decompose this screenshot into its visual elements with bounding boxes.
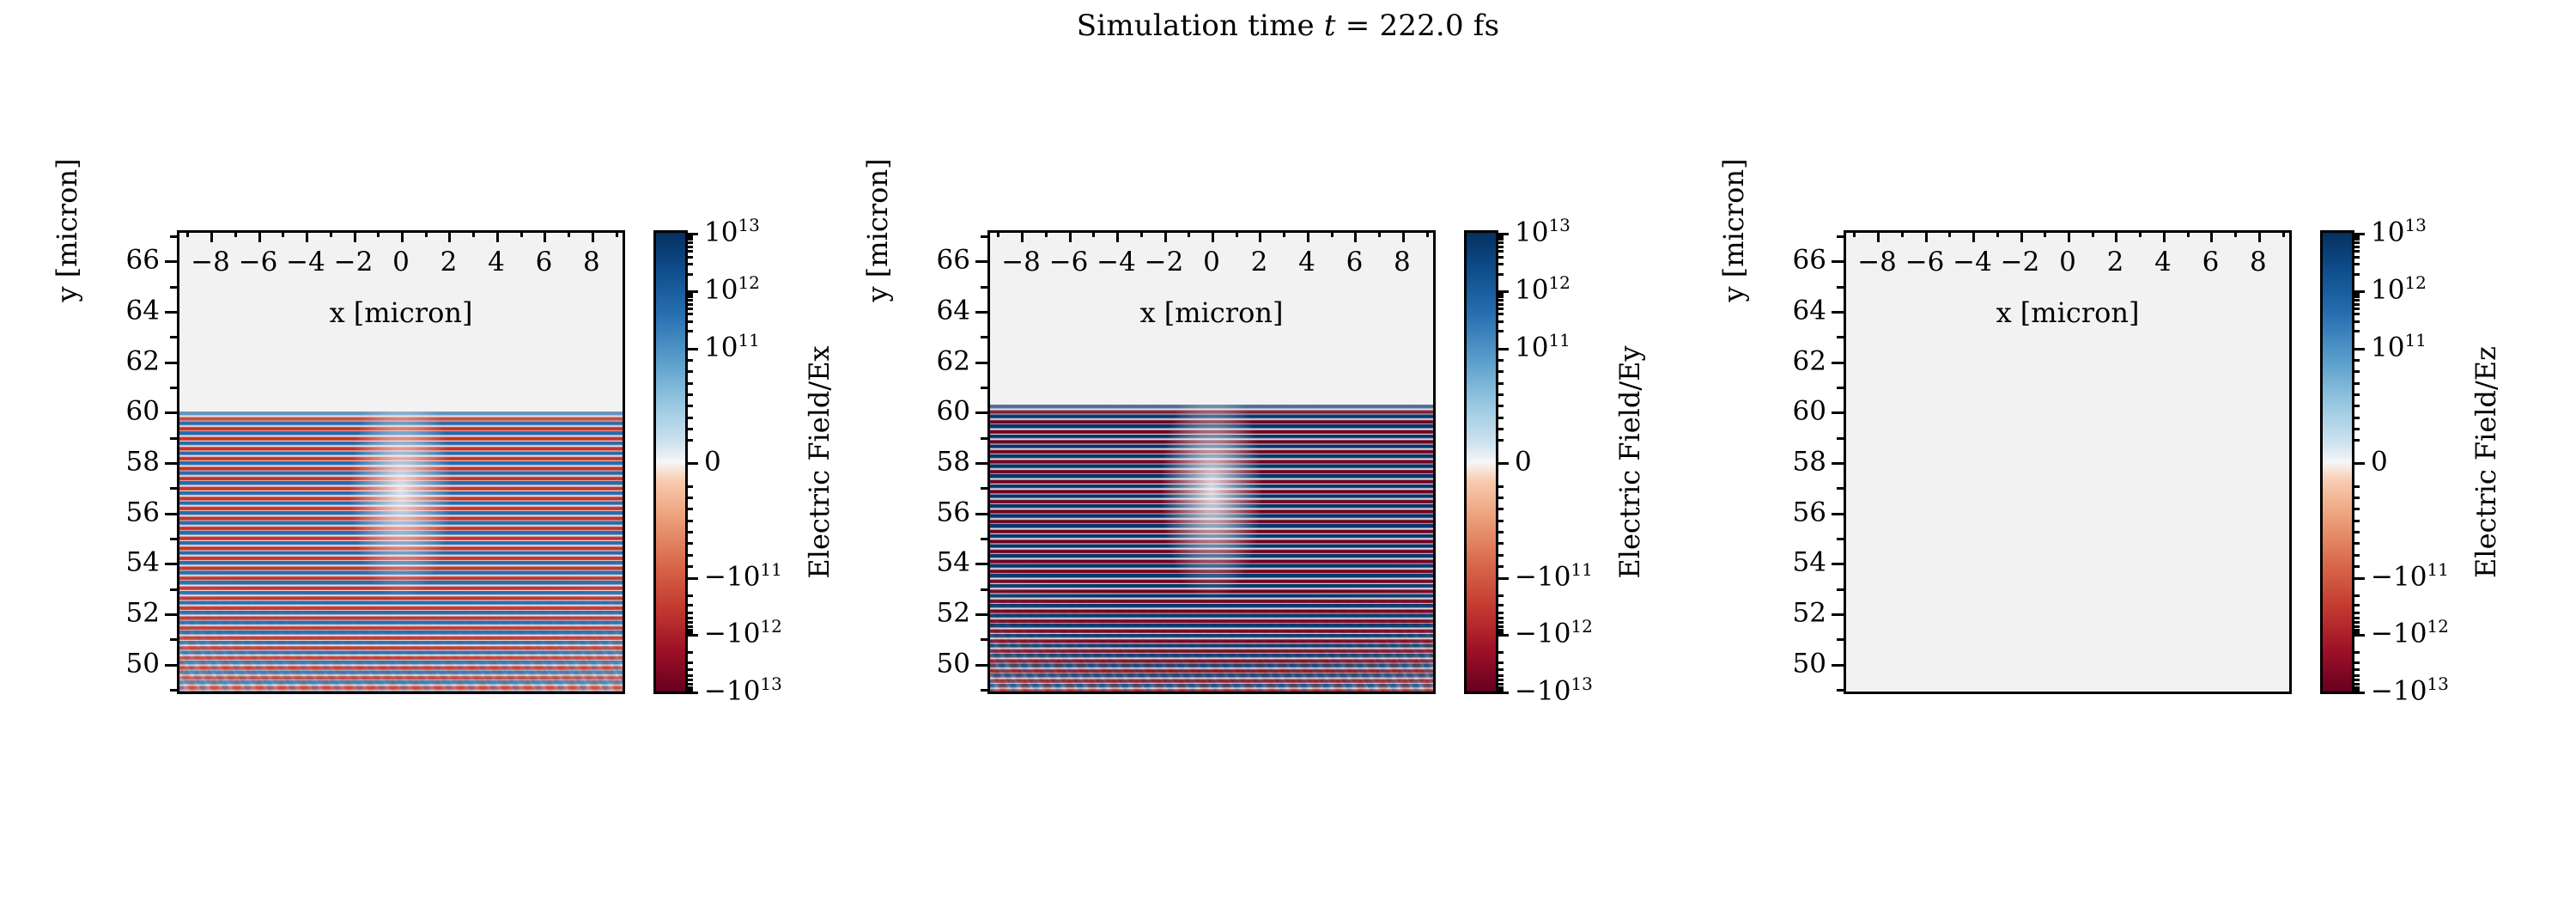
- y-tick-minor: [170, 437, 177, 440]
- y-tick-minor: [981, 689, 987, 692]
- colorbar-tick-minor: [1496, 241, 1504, 244]
- x-tick-minor: [472, 230, 475, 237]
- colorbar-tick-minor: [685, 303, 693, 306]
- colorbar-tick-minor: [685, 497, 693, 499]
- y-tick-major: [1832, 513, 1844, 515]
- colorbar-ex: 1013101210110−1011−1012−1013Electric Fie…: [653, 230, 688, 694]
- x-tick-major: [1212, 230, 1214, 242]
- colorbar-tick-minor: [1496, 293, 1504, 296]
- x-tick-minor: [616, 230, 618, 237]
- colorbar-tick-major: [685, 348, 698, 350]
- x-tick-minor: [234, 230, 237, 237]
- x-tick-label: −8: [1857, 249, 1897, 276]
- y-tick-minor: [981, 638, 987, 641]
- y-tick-major: [1832, 311, 1844, 314]
- y-tick-major: [165, 411, 177, 414]
- y-tick-major: [165, 362, 177, 364]
- colorbar-tick-major: [1496, 462, 1509, 465]
- colorbar-tick-minor: [2352, 594, 2360, 597]
- colorbar-tick-minor: [2352, 382, 2360, 385]
- colorbar-tick-minor: [1496, 250, 1504, 253]
- y-tick-major: [1832, 260, 1844, 263]
- colorbar-tick-minor: [2352, 683, 2360, 686]
- x-axis-label: x [micron]: [177, 297, 625, 328]
- y-tick-label: 56: [126, 499, 160, 526]
- x-tick-minor: [1092, 230, 1095, 237]
- colorbar-tick-minor: [2352, 612, 2360, 614]
- x-tick-major: [401, 230, 404, 242]
- colorbar-label-ey: Electric Field/Ey: [1614, 345, 1645, 578]
- colorbar-tick-minor: [1496, 542, 1504, 545]
- x-tick-label: −2: [2001, 249, 2040, 276]
- colorbar-tick-label: 0: [2371, 449, 2388, 476]
- colorbar-tick-minor: [685, 625, 693, 628]
- colorbar-tick-minor: [1496, 238, 1504, 241]
- x-tick-label: 6: [1346, 249, 1364, 276]
- x-tick-minor: [2234, 230, 2237, 237]
- colorbar-tick-minor: [685, 604, 693, 606]
- colorbar-tick-minor: [2352, 651, 2360, 654]
- y-tick-minor: [981, 235, 987, 238]
- y-tick-label: 60: [126, 399, 160, 425]
- colorbar-tick-label: 1012: [704, 277, 760, 303]
- colorbar-tick-minor: [2352, 497, 2360, 499]
- y-tick-major: [165, 613, 177, 616]
- x-tick-label: 0: [392, 249, 410, 276]
- y-tick-major: [165, 311, 177, 314]
- colorbar-tick-major: [1496, 634, 1509, 637]
- x-tick-label: 4: [2154, 249, 2172, 276]
- x-tick-label: 2: [2107, 249, 2124, 276]
- y-tick-minor: [981, 437, 987, 440]
- y-tick-minor: [1837, 638, 1844, 641]
- colorbar-tick-minor: [1496, 508, 1504, 510]
- y-tick-major: [975, 513, 987, 515]
- y-tick-label: 56: [1793, 499, 1826, 526]
- colorbar-tick-minor: [2352, 246, 2360, 248]
- title-variable: t: [1324, 9, 1336, 43]
- colorbar-tick-minor: [2352, 256, 2360, 259]
- colorbar-tick-minor: [685, 428, 693, 430]
- colorbar-tick-minor: [2352, 428, 2360, 430]
- y-axis-label: y [micron]: [52, 159, 82, 302]
- y-tick-major: [975, 613, 987, 616]
- x-tick-minor: [1140, 230, 1143, 237]
- x-tick-label: −6: [239, 249, 278, 276]
- x-tick-major: [210, 230, 213, 242]
- y-tick-minor: [981, 487, 987, 490]
- x-tick-minor: [1045, 230, 1048, 237]
- x-tick-major: [2210, 230, 2213, 242]
- colorbar-tick-minor: [1496, 531, 1504, 533]
- x-tick-minor: [2044, 230, 2046, 237]
- colorbar-tick-minor: [685, 689, 693, 692]
- colorbar-tick-minor: [2352, 565, 2360, 568]
- colorbar-tick-major: [2352, 348, 2365, 350]
- y-tick-label: 52: [1793, 600, 1826, 627]
- colorbar-tick-minor: [2352, 238, 2360, 241]
- colorbar-label-ez: Electric Field/Ez: [2470, 346, 2501, 578]
- colorbar-tick-minor: [1496, 668, 1504, 671]
- y-tick-label: 52: [937, 600, 970, 627]
- colorbar-tick-minor: [2352, 554, 2360, 557]
- colorbar-tick-label: 1013: [1515, 220, 1571, 247]
- y-tick-major: [165, 462, 177, 465]
- y-tick-major: [165, 260, 177, 263]
- colorbar-tick-minor: [2352, 674, 2360, 677]
- colorbar-tick-label: −1012: [704, 621, 782, 648]
- x-tick-label: −6: [1905, 249, 1945, 276]
- colorbar-tick-minor: [685, 668, 693, 671]
- colorbar-tick-minor: [1496, 393, 1504, 396]
- figure-canvas: Simulation time t = 222.0 fs 50525456586…: [0, 0, 2576, 902]
- x-tick-major: [2020, 230, 2023, 242]
- colorbar-tick-minor: [685, 241, 693, 244]
- x-tick-minor: [2187, 230, 2190, 237]
- colorbar-gradient: [656, 233, 685, 692]
- colorbar-tick-minor: [2352, 661, 2360, 664]
- y-tick-minor: [981, 286, 987, 289]
- colorbar-tick-label: 1011: [2371, 334, 2427, 361]
- colorbar-tick-minor: [1496, 621, 1504, 624]
- colorbar-tick-minor: [1496, 330, 1504, 332]
- y-tick-major: [975, 260, 987, 263]
- colorbar-tick-minor: [1496, 370, 1504, 373]
- colorbar-tick-minor: [685, 330, 693, 332]
- x-tick-label: 2: [440, 249, 458, 276]
- y-tick-major: [1832, 362, 1844, 364]
- x-tick-minor: [377, 230, 380, 237]
- colorbar-tick-minor: [1496, 683, 1504, 686]
- x-tick-label: 0: [2059, 249, 2076, 276]
- x-tick-major: [1116, 230, 1119, 242]
- colorbar-tick-minor: [2352, 299, 2360, 302]
- colorbar-tick-minor: [1496, 382, 1504, 385]
- x-tick-major: [1259, 230, 1261, 242]
- colorbar-tick-minor: [1496, 303, 1504, 306]
- colorbar-tick-minor: [685, 565, 693, 568]
- y-tick-label: 62: [1793, 348, 1826, 375]
- x-axis-label: x [micron]: [987, 297, 1436, 328]
- y-tick-major: [1832, 462, 1844, 465]
- colorbar-tick-minor: [685, 263, 693, 265]
- x-tick-label: −8: [191, 249, 230, 276]
- colorbar-tick-minor: [2352, 617, 2360, 619]
- colorbar-tick-minor: [685, 382, 693, 385]
- colorbar-tick-minor: [685, 508, 693, 510]
- colorbar-tick-minor: [1496, 604, 1504, 606]
- colorbar-tick-minor: [2352, 241, 2360, 244]
- y-tick-minor: [1837, 336, 1844, 338]
- title-prefix: Simulation time: [1077, 9, 1324, 43]
- colorbar-tick-minor: [1496, 631, 1504, 634]
- colorbar-tick-minor: [685, 238, 693, 241]
- colorbar-tick-minor: [1496, 625, 1504, 628]
- x-tick-minor: [1331, 230, 1334, 237]
- x-tick-major: [1354, 230, 1357, 242]
- y-tick-minor: [981, 538, 987, 540]
- colorbar-tick-minor: [1496, 273, 1504, 276]
- x-tick-minor: [1188, 230, 1190, 237]
- y-tick-minor: [170, 588, 177, 591]
- colorbar-tick-minor: [2352, 417, 2360, 419]
- colorbar-tick-minor: [685, 531, 693, 533]
- colorbar-tick-minor: [1496, 308, 1504, 310]
- colorbar-tick-minor: [685, 617, 693, 619]
- x-tick-minor: [1948, 230, 1951, 237]
- y-tick-minor: [170, 336, 177, 338]
- colorbar-tick-minor: [2352, 250, 2360, 253]
- colorbar-tick-minor: [685, 594, 693, 597]
- x-tick-minor: [2282, 230, 2285, 237]
- x-tick-label: 4: [488, 249, 505, 276]
- colorbar-gradient: [1467, 233, 1496, 692]
- colorbar-tick-minor: [1496, 320, 1504, 323]
- colorbar-tick-minor: [2352, 273, 2360, 276]
- x-tick-minor: [186, 230, 189, 237]
- colorbar-tick-minor: [1496, 689, 1504, 692]
- colorbar-tick-minor: [685, 256, 693, 259]
- colorbar-tick-minor: [2352, 625, 2360, 628]
- y-tick-minor: [1837, 487, 1844, 490]
- colorbar-tick-minor: [685, 661, 693, 664]
- colorbar-tick-minor: [2352, 668, 2360, 671]
- x-tick-label: 6: [536, 249, 553, 276]
- colorbar-tick-minor: [1496, 299, 1504, 302]
- y-tick-minor: [981, 588, 987, 591]
- colorbar-tick-minor: [2352, 621, 2360, 624]
- colorbar-tick-minor: [2352, 485, 2360, 488]
- y-tick-minor: [1837, 235, 1844, 238]
- colorbar-tick-minor: [2352, 320, 2360, 323]
- colorbar-tick-minor: [1496, 313, 1504, 315]
- y-tick-label: 50: [126, 650, 160, 677]
- y-tick-label: 66: [1793, 247, 1826, 274]
- colorbar-tick-minor: [2352, 631, 2360, 634]
- colorbar-tick-minor: [2352, 303, 2360, 306]
- x-tick-minor: [1996, 230, 1999, 237]
- colorbar-tick-minor: [1496, 554, 1504, 557]
- colorbar-tick-minor: [685, 293, 693, 296]
- figure-title: Simulation time t = 222.0 fs: [0, 7, 2576, 45]
- y-tick-minor: [1837, 689, 1844, 692]
- colorbar-tick-minor: [685, 554, 693, 557]
- y-tick-minor: [981, 336, 987, 338]
- y-tick-label: 52: [126, 600, 160, 627]
- x-tick-minor: [1283, 230, 1285, 237]
- colorbar-tick-label: 0: [1515, 449, 1532, 476]
- colorbar-tick-minor: [1496, 520, 1504, 522]
- colorbar-tick-minor: [1496, 296, 1504, 298]
- colorbar-tick-minor: [2352, 235, 2360, 238]
- y-tick-major: [1832, 613, 1844, 616]
- colorbar-tick-label: −1011: [2371, 564, 2449, 590]
- colorbar-tick-minor: [685, 612, 693, 614]
- x-tick-label: −2: [334, 249, 374, 276]
- colorbar-tick-major: [685, 462, 698, 465]
- x-tick-major: [258, 230, 261, 242]
- colorbar-tick-label: 1011: [704, 334, 760, 361]
- colorbar-tick-major: [1496, 692, 1509, 694]
- colorbar-tick-minor: [1496, 263, 1504, 265]
- y-tick-label: 66: [126, 247, 160, 274]
- colorbar-tick-minor: [685, 679, 693, 681]
- colorbar-tick-minor: [685, 393, 693, 396]
- y-tick-major: [165, 563, 177, 565]
- colorbar-tick-minor: [2352, 508, 2360, 510]
- colorbar-tick-minor: [685, 631, 693, 634]
- colorbar-tick-major: [1496, 348, 1509, 350]
- colorbar-tick-minor: [685, 370, 693, 373]
- y-tick-minor: [170, 286, 177, 289]
- x-tick-minor: [1901, 230, 1904, 237]
- x-tick-major: [354, 230, 356, 242]
- y-tick-label: 50: [1793, 650, 1826, 677]
- colorbar-tick-minor: [2352, 689, 2360, 692]
- x-tick-label: 8: [2250, 249, 2267, 276]
- y-tick-label: 58: [126, 449, 160, 476]
- colorbar-tick-minor: [685, 273, 693, 276]
- x-tick-label: 0: [1203, 249, 1220, 276]
- colorbar-tick-label: 1011: [1515, 334, 1571, 361]
- x-tick-major: [2258, 230, 2261, 242]
- x-tick-major: [1877, 230, 1880, 242]
- colorbar-tick-minor: [685, 439, 693, 442]
- x-tick-major: [448, 230, 451, 242]
- colorbar-tick-minor: [1496, 439, 1504, 442]
- x-tick-minor: [1236, 230, 1238, 237]
- colorbar-tick-minor: [1496, 235, 1504, 238]
- colorbar-tick-minor: [1496, 661, 1504, 664]
- colorbar-tick-minor: [2352, 293, 2360, 296]
- x-tick-major: [1307, 230, 1309, 242]
- x-tick-minor: [1853, 230, 1856, 237]
- colorbar-tick-label: −1011: [704, 564, 782, 590]
- colorbar-tick-minor: [1496, 246, 1504, 248]
- x-tick-label: 2: [1251, 249, 1268, 276]
- y-tick-major: [1832, 411, 1844, 414]
- colorbar-tick-minor: [1496, 428, 1504, 430]
- colorbar-tick-major: [2352, 692, 2365, 694]
- colorbar-tick-minor: [685, 674, 693, 677]
- y-tick-major: [975, 462, 987, 465]
- y-tick-label: 62: [937, 348, 970, 375]
- x-tick-label: 8: [583, 249, 600, 276]
- colorbar-tick-minor: [685, 683, 693, 686]
- y-tick-major: [1832, 664, 1844, 667]
- colorbar-tick-minor: [1496, 674, 1504, 677]
- y-tick-label: 64: [937, 297, 970, 324]
- x-tick-major: [1402, 230, 1405, 242]
- colorbar-gradient: [2323, 233, 2352, 692]
- colorbar-tick-minor: [2352, 679, 2360, 681]
- y-tick-minor: [1837, 286, 1844, 289]
- x-tick-major: [1972, 230, 1975, 242]
- colorbar-tick-label: −1013: [704, 679, 782, 705]
- x-tick-minor: [2139, 230, 2142, 237]
- y-tick-minor: [1837, 538, 1844, 540]
- colorbar-tick-minor: [1496, 617, 1504, 619]
- x-tick-major: [1069, 230, 1072, 242]
- colorbar-tick-minor: [2352, 542, 2360, 545]
- x-tick-major: [496, 230, 499, 242]
- y-tick-label: 56: [937, 499, 970, 526]
- colorbar-tick-minor: [1496, 679, 1504, 681]
- y-tick-minor: [981, 387, 987, 389]
- title-equals: =: [1336, 9, 1380, 43]
- y-tick-major: [165, 664, 177, 667]
- colorbar-ez: 1013101210110−1011−1012−1013Electric Fie…: [2320, 230, 2354, 694]
- colorbar-tick-minor: [1496, 651, 1504, 654]
- colorbar-tick-minor: [1496, 485, 1504, 488]
- x-tick-minor: [1378, 230, 1381, 237]
- colorbar-tick-label: −1011: [1515, 564, 1593, 590]
- colorbar-tick-minor: [685, 542, 693, 545]
- colorbar-tick-label: 1013: [704, 220, 760, 247]
- y-tick-major: [975, 563, 987, 565]
- colorbar-tick-label: 1012: [1515, 277, 1571, 303]
- x-tick-minor: [997, 230, 999, 237]
- x-tick-label: −6: [1049, 249, 1089, 276]
- colorbar-tick-minor: [685, 651, 693, 654]
- colorbar-tick-minor: [1496, 359, 1504, 362]
- x-tick-minor: [520, 230, 523, 237]
- colorbar-tick-minor: [2352, 520, 2360, 522]
- x-tick-label: −2: [1145, 249, 1184, 276]
- y-tick-major: [165, 513, 177, 515]
- y-tick-minor: [170, 538, 177, 540]
- y-tick-label: 66: [937, 247, 970, 274]
- colorbar-tick-major: [685, 634, 698, 637]
- colorbar-tick-major: [2352, 577, 2365, 580]
- colorbar-tick-major: [685, 577, 698, 580]
- x-tick-label: −4: [1097, 249, 1136, 276]
- colorbar-tick-label: −1013: [1515, 679, 1593, 705]
- x-tick-label: 8: [1394, 249, 1411, 276]
- colorbar-tick-minor: [685, 520, 693, 522]
- colorbar-tick-minor: [2352, 308, 2360, 310]
- colorbar-label-ex: Electric Field/Ex: [804, 345, 835, 578]
- y-axis-label: y [micron]: [1718, 159, 1749, 302]
- colorbar-tick-minor: [1496, 565, 1504, 568]
- colorbar-tick-minor: [1496, 405, 1504, 407]
- title-value: 222.0 fs: [1379, 9, 1499, 43]
- y-tick-minor: [170, 235, 177, 238]
- colorbar-tick-minor: [1496, 497, 1504, 499]
- colorbar-tick-minor: [685, 313, 693, 315]
- colorbar-tick-minor: [2352, 405, 2360, 407]
- x-tick-label: −4: [1953, 249, 1992, 276]
- colorbar-tick-minor: [685, 250, 693, 253]
- colorbar-tick-major: [2352, 634, 2365, 637]
- y-tick-major: [975, 362, 987, 364]
- colorbar-tick-minor: [685, 405, 693, 407]
- x-tick-label: −4: [286, 249, 325, 276]
- colorbar-tick-minor: [2352, 359, 2360, 362]
- colorbar-ey: 1013101210110−1011−1012−1013Electric Fie…: [1464, 230, 1498, 694]
- colorbar-tick-minor: [1496, 256, 1504, 259]
- y-tick-minor: [1837, 588, 1844, 591]
- x-tick-major: [544, 230, 546, 242]
- colorbar-tick-minor: [1496, 612, 1504, 614]
- x-tick-major: [2068, 230, 2070, 242]
- colorbar-tick-label: 1013: [2371, 220, 2427, 247]
- x-tick-minor: [425, 230, 428, 237]
- y-tick-label: 64: [126, 297, 160, 324]
- y-tick-label: 58: [1793, 449, 1826, 476]
- colorbar-tick-minor: [685, 296, 693, 298]
- colorbar-tick-minor: [685, 246, 693, 248]
